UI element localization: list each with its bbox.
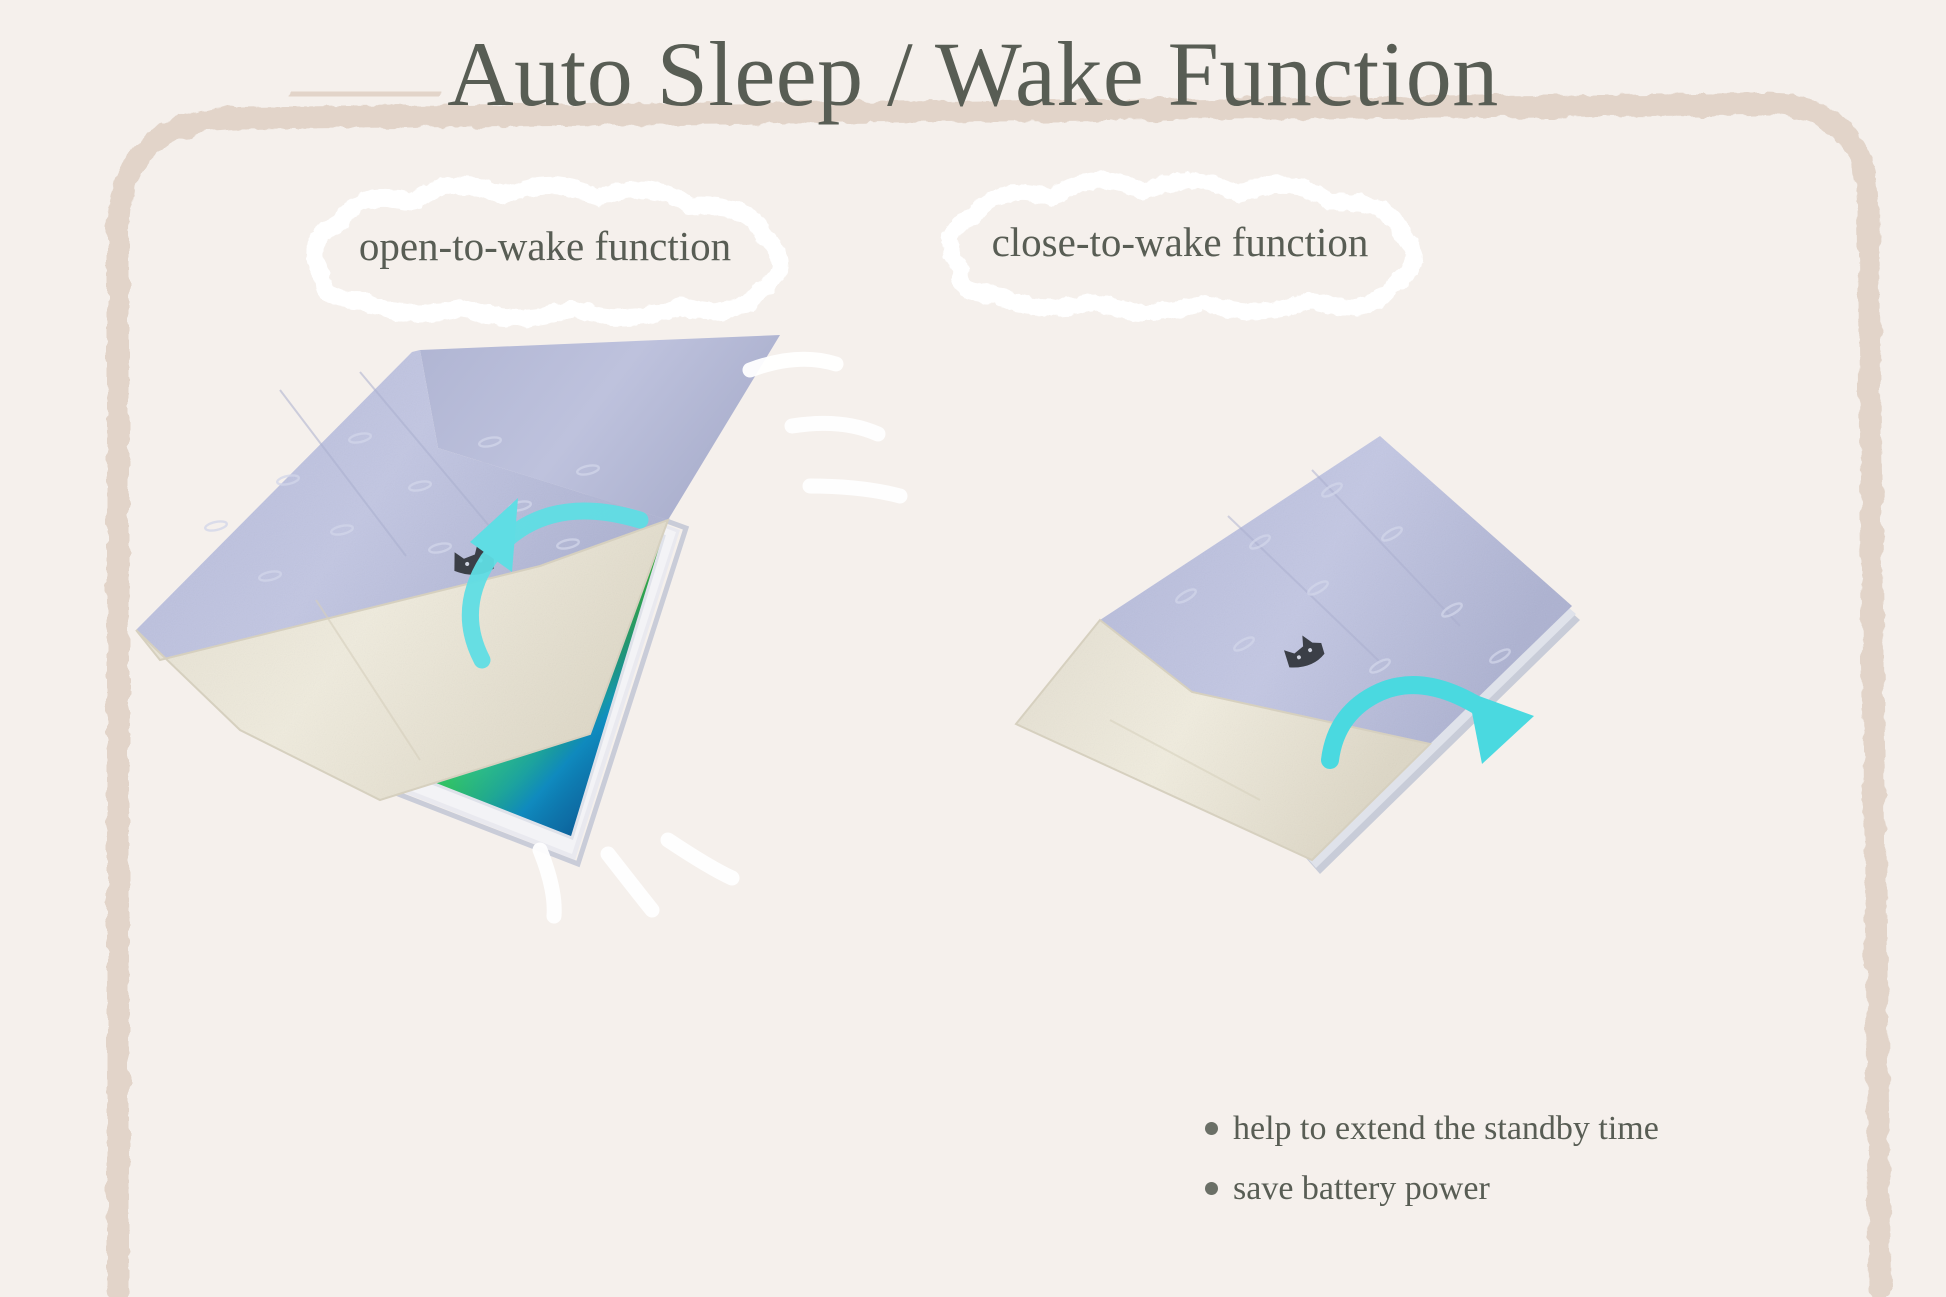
page-title: Auto Sleep / Wake Function	[0, 26, 1946, 123]
product-tablet-case-closed	[960, 430, 1660, 910]
benefit-item: help to extend the standby time	[1205, 1112, 1659, 1146]
benefit-item: save battery power	[1205, 1172, 1659, 1206]
callout-close-label: close-to-wake function	[920, 172, 1440, 312]
benefit-label: save battery power	[1233, 1172, 1490, 1206]
benefit-label: help to extend the standby time	[1233, 1112, 1659, 1146]
infographic-canvas: Auto Sleep / Wake Function open-to-wake …	[0, 0, 1946, 1297]
benefits-list: help to extend the standby time save bat…	[1205, 1112, 1659, 1232]
callout-open-label: open-to-wake function	[285, 176, 805, 316]
product-tablet-case-open	[120, 330, 880, 890]
callout-open-to-wake: open-to-wake function	[285, 176, 805, 316]
bullet-dot-icon	[1205, 1122, 1218, 1135]
bullet-dot-icon	[1205, 1182, 1218, 1195]
callout-close-to-wake: close-to-wake function	[920, 172, 1440, 312]
